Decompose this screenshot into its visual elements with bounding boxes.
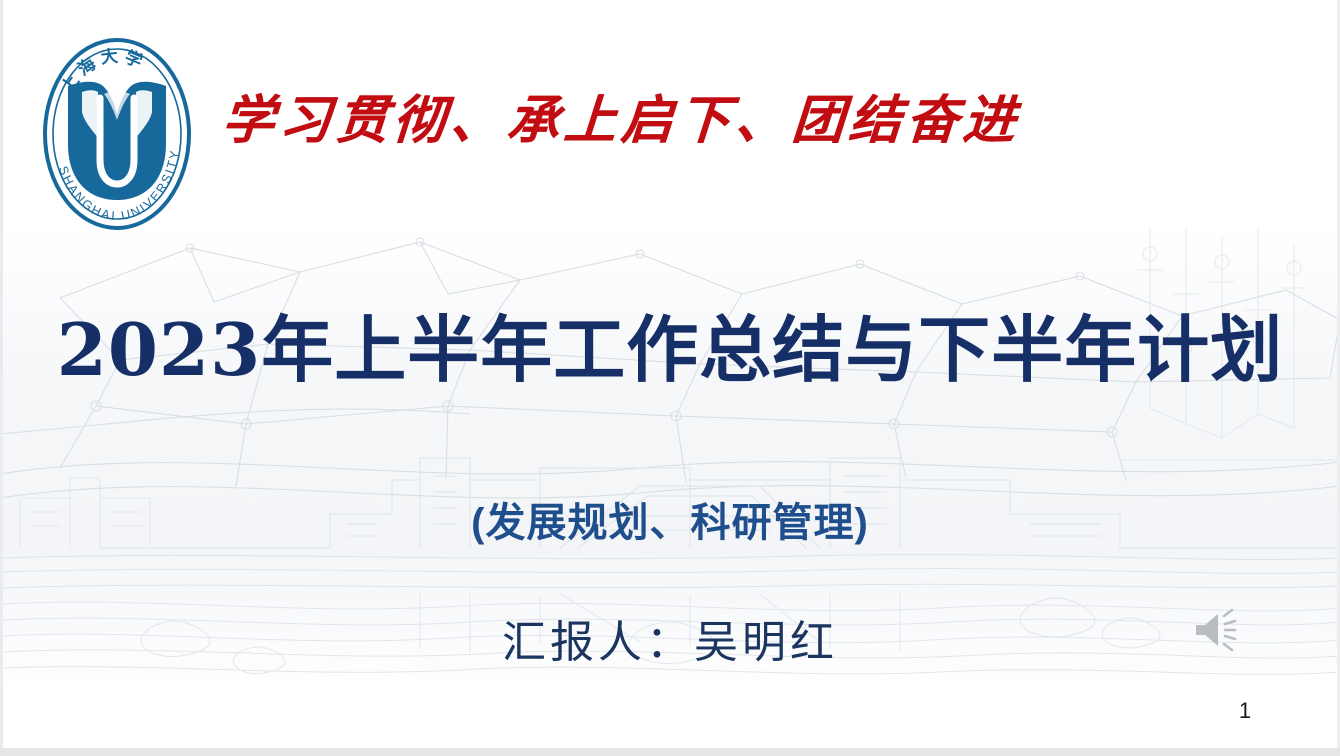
presentation-slide: 上海大学 SHANGHAI UNIVERSITY 学习贯彻、承上启下、团结奋进 …: [0, 0, 1340, 756]
slide-left-edge: [0, 0, 3, 748]
slide-bottom-bar: [0, 748, 1340, 756]
page-subtitle: (发展规划、科研管理): [0, 490, 1340, 548]
shanghai-university-logo: 上海大学 SHANGHAI UNIVERSITY: [38, 28, 196, 234]
slogan-calligraphy: 学习贯彻、承上启下、团结奋进: [220, 95, 1022, 147]
speaker-audio-icon[interactable]: [1192, 608, 1248, 652]
page-title: 2023年上半年工作总结与下半年计划: [0, 312, 1340, 388]
presenter-line: 汇报人：吴明红: [0, 606, 1340, 670]
page-number: 1: [1210, 698, 1280, 724]
